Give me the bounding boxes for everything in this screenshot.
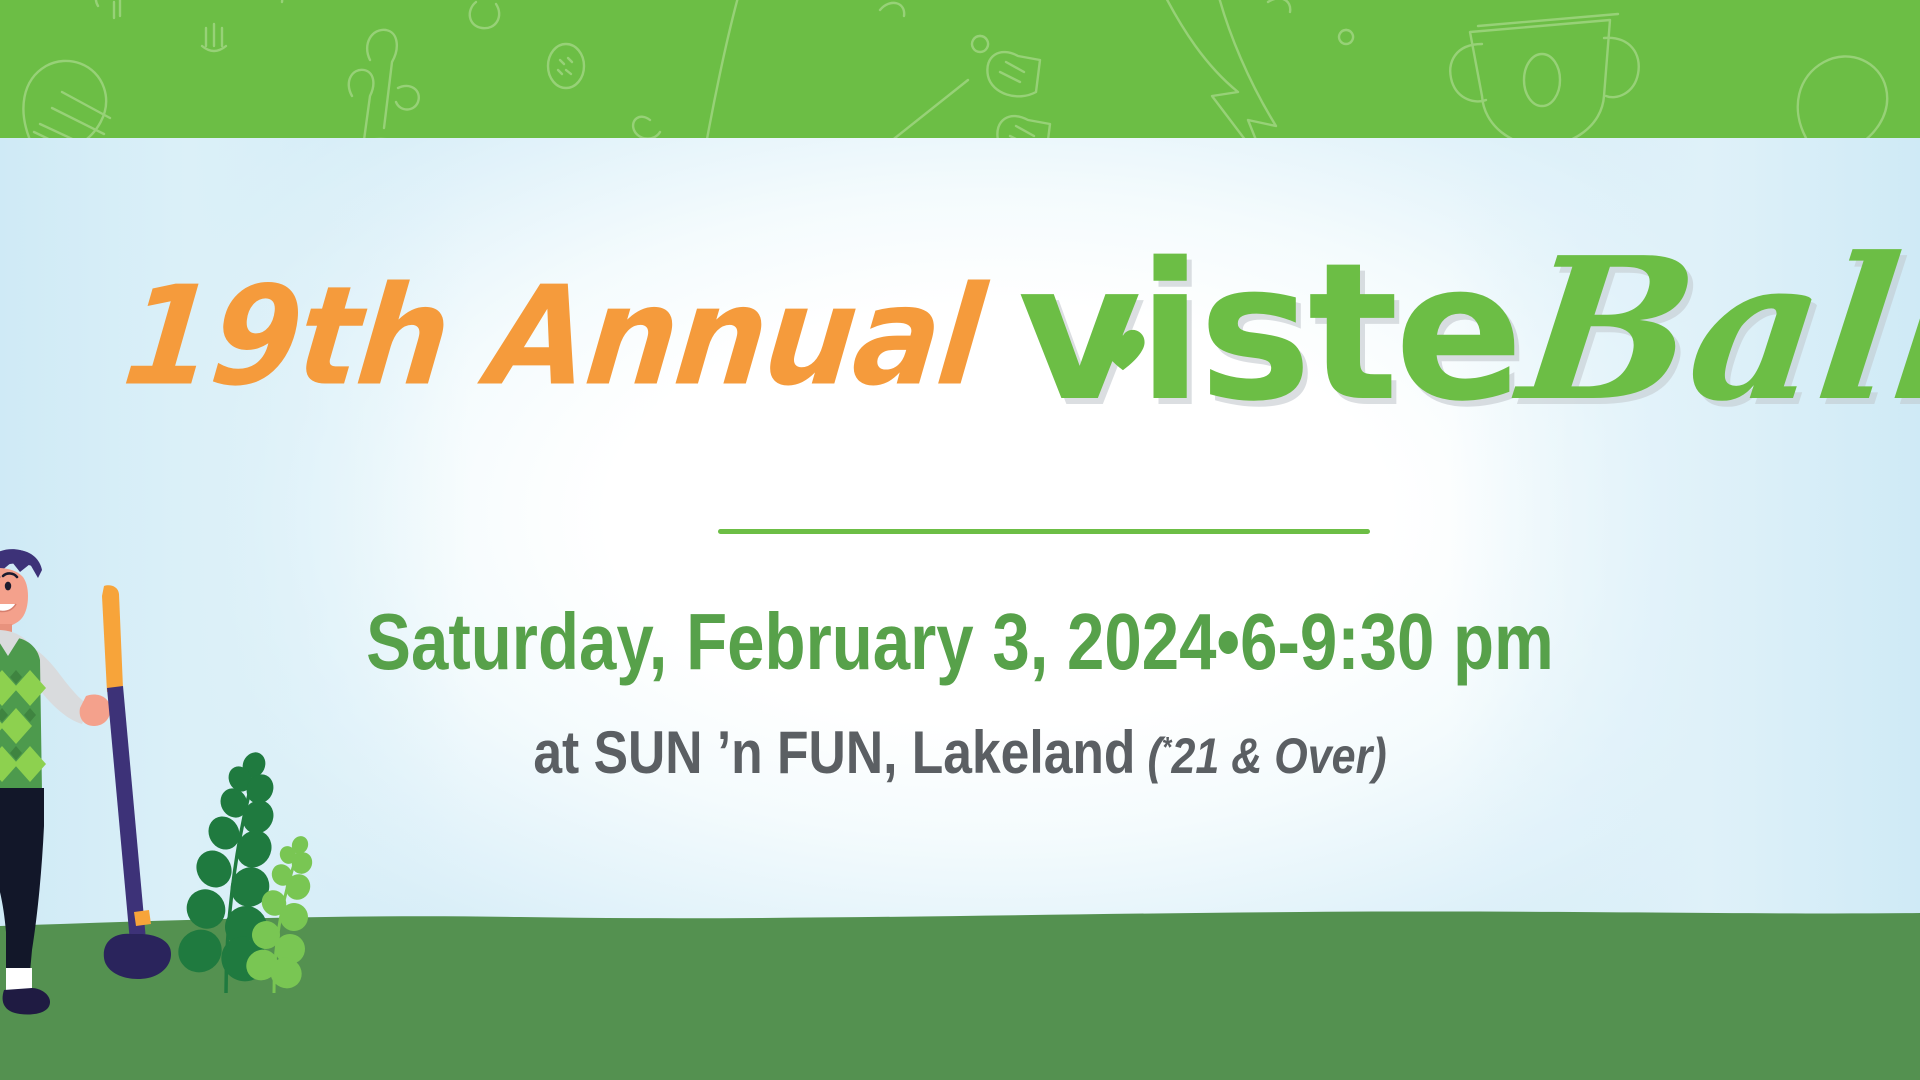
- heart-icon: [1100, 328, 1146, 372]
- top-doodle-banner: [0, 0, 1920, 138]
- flag-doodle: [1160, 0, 1290, 138]
- golfer-face: [0, 568, 28, 629]
- event-venue-text: at SUN ’n FUN, Lakeland: [533, 719, 1135, 786]
- golf-clubs-doodle: [344, 30, 419, 138]
- scatter-doodle: [96, 0, 1353, 138]
- tee-doodle: [202, 24, 226, 51]
- golfer-pants: [0, 788, 44, 972]
- event-date-line: Saturday, February 3, 2024•6-9:30 pm: [154, 596, 1767, 688]
- golf-bag-doodle: [23, 61, 110, 138]
- logo-viste-word: viste: [1018, 242, 1520, 424]
- age-note-open-paren: (: [1147, 728, 1161, 784]
- golf-club-ferrule: [134, 910, 151, 926]
- divider-rule: [718, 529, 1370, 534]
- golf-bag-right-doodle: [1749, 56, 1887, 138]
- age-note-asterisk: *: [1162, 732, 1172, 764]
- golfer-illustration: [0, 520, 196, 1020]
- visteball-logo: viste Ball: [1018, 236, 1920, 424]
- golfer-shoe-right: [3, 988, 50, 1015]
- event-venue-line: at SUN ’n FUN, Lakeland(*21 & Over): [134, 718, 1785, 787]
- logo-viste-text: viste: [1018, 222, 1520, 443]
- golf-club-head: [104, 934, 171, 979]
- event-date-text: Saturday, February 3, 2024•6-9:30 pm: [366, 597, 1554, 686]
- golf-doodle-pattern: [0, 0, 1920, 138]
- golf-club-grip: [102, 585, 123, 692]
- golf-ball-doodle: [548, 44, 584, 88]
- age-restriction-note: (*21 & Over): [1147, 728, 1386, 784]
- logo-ball-word: Ball: [1513, 236, 1920, 424]
- golfer-eye-right: [5, 582, 11, 591]
- event-banner: 19th Annual viste Ball Saturday, Februar…: [0, 0, 1920, 1080]
- headline-row: 19th Annual viste Ball: [0, 236, 1920, 456]
- golf-club-shaft: [107, 686, 146, 942]
- age-note-text: 21 & Over: [1172, 728, 1373, 784]
- golfer-hand: [80, 694, 111, 726]
- trophy-doodle: [1450, 14, 1638, 138]
- edition-label: 19th Annual: [118, 269, 988, 406]
- age-note-close-paren: ): [1372, 728, 1386, 784]
- driver-doodle: [689, 0, 745, 138]
- fern-plants-illustration: [178, 745, 318, 995]
- wedge-doodle: [822, 52, 1050, 138]
